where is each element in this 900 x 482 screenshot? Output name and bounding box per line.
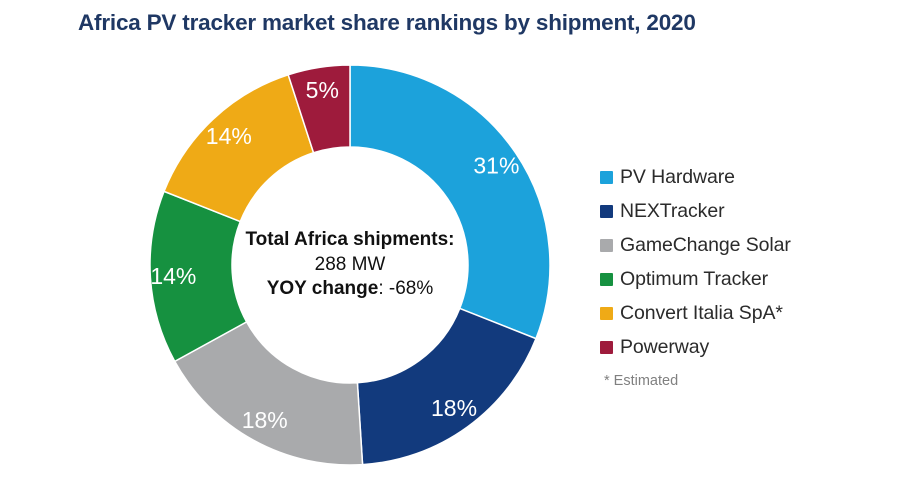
legend-item[interactable]: PV Hardware [600,160,860,194]
legend-swatch-icon [600,171,613,184]
slice-value-label: 18% [431,395,477,421]
legend-item[interactable]: NEXTracker [600,194,860,228]
legend-item-label: PV Hardware [620,166,735,189]
legend-rows: PV HardwareNEXTrackerGameChange SolarOpt… [600,160,860,364]
legend-item[interactable]: Powerway [600,330,860,364]
legend-swatch-icon [600,273,613,286]
slice-value-label: 5% [306,77,339,103]
page-title: Africa PV tracker market share rankings … [78,10,696,36]
donut-svg: 31%18%18%14%14%5% [150,65,550,465]
legend-swatch-icon [600,239,613,252]
legend-item[interactable]: GameChange Solar [600,228,860,262]
legend-swatch-icon [600,341,613,354]
chart-page: Africa PV tracker market share rankings … [0,0,900,482]
slice-value-label: 14% [150,263,196,289]
legend-item-label: Optimum Tracker [620,268,768,291]
legend: PV HardwareNEXTrackerGameChange SolarOpt… [600,160,860,389]
donut-chart: 31%18%18%14%14%5% [150,65,550,465]
legend-item[interactable]: Convert Italia SpA* [600,296,860,330]
slice-value-label: 18% [242,407,288,433]
legend-swatch-icon [600,205,613,218]
legend-footnote: * Estimated [604,373,860,389]
legend-item-label: NEXTracker [620,200,724,223]
slice-value-label: 14% [206,123,252,149]
donut-slice[interactable] [350,65,550,339]
legend-item-label: GameChange Solar [620,234,791,257]
donut-slice[interactable] [357,308,536,464]
legend-swatch-icon [600,307,613,320]
slice-value-label: 31% [473,153,519,179]
legend-item[interactable]: Optimum Tracker [600,262,860,296]
legend-item-label: Powerway [620,336,709,359]
legend-item-label: Convert Italia SpA* [620,302,783,325]
